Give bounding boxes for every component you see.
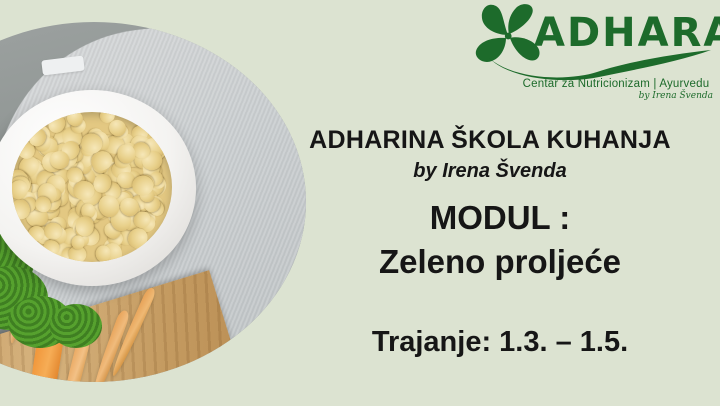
logo-byline: by Irena Švenda bbox=[519, 91, 713, 101]
module-label: MODUL : bbox=[300, 199, 700, 237]
swoosh-underline-icon bbox=[487, 48, 713, 80]
module-name: Zeleno proljeće bbox=[300, 243, 700, 281]
promo-poster: ADHARA Centar za Nutricionizam | Ayurved… bbox=[0, 0, 720, 406]
chickpeas bbox=[12, 112, 172, 262]
adhara-logo[interactable]: ADHARA Centar za Nutricionizam | Ayurved… bbox=[473, 4, 713, 108]
food-photo bbox=[0, 22, 306, 382]
photo-surface bbox=[0, 22, 306, 382]
parsley-sprig bbox=[50, 304, 102, 348]
author-line: by Irena Švenda bbox=[290, 160, 690, 183]
duration-line: Trajanje: 1.3. – 1.5. bbox=[300, 326, 700, 359]
school-title: ADHARINA ŠKOLA KUHANJA bbox=[290, 126, 690, 155]
logo-tagline: Centar za Nutricionizam | Ayurvedu bbox=[519, 78, 713, 90]
